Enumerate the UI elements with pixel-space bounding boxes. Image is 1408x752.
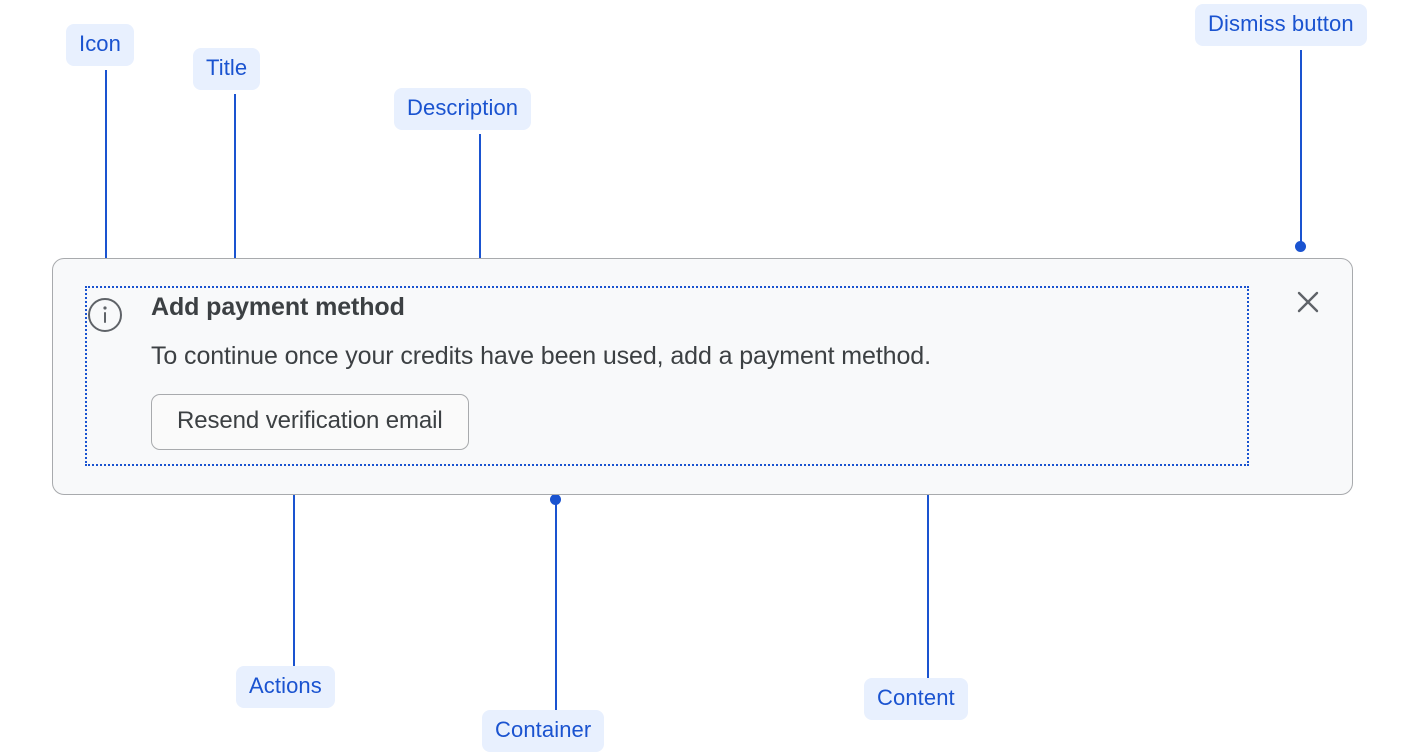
alert-icon-slot [87, 288, 151, 464]
annotation-label-content: Content [864, 678, 968, 720]
annotation-dot-dismiss [1295, 241, 1306, 252]
resend-verification-email-button[interactable]: Resend verification email [151, 394, 469, 450]
info-circle-icon [87, 297, 123, 338]
annotation-label-description: Description [394, 88, 531, 130]
annotation-label-icon: Icon [66, 24, 134, 66]
annotation-dot-container [550, 494, 561, 505]
alert-title: Add payment method [151, 291, 1247, 323]
annotation-label-dismiss: Dismiss button [1195, 4, 1367, 46]
alert-container: Add payment method To continue once your… [52, 258, 1353, 495]
close-icon [1295, 289, 1321, 318]
alert-content: Add payment method To continue once your… [85, 286, 1249, 466]
alert-description: To continue once your credits have been … [151, 340, 1247, 372]
dismiss-button[interactable] [1290, 285, 1326, 321]
annotation-leader-content [927, 469, 929, 678]
annotation-label-container: Container [482, 710, 604, 752]
alert-actions: Resend verification email [151, 394, 1247, 450]
annotation-leader-container [555, 501, 557, 710]
alert-text-block: Add payment method To continue once your… [151, 288, 1247, 464]
annotation-leader-dismiss [1300, 50, 1302, 246]
annotation-label-actions: Actions [236, 666, 335, 708]
annotation-leader-icon [105, 70, 107, 270]
annotation-label-title: Title [193, 48, 260, 90]
